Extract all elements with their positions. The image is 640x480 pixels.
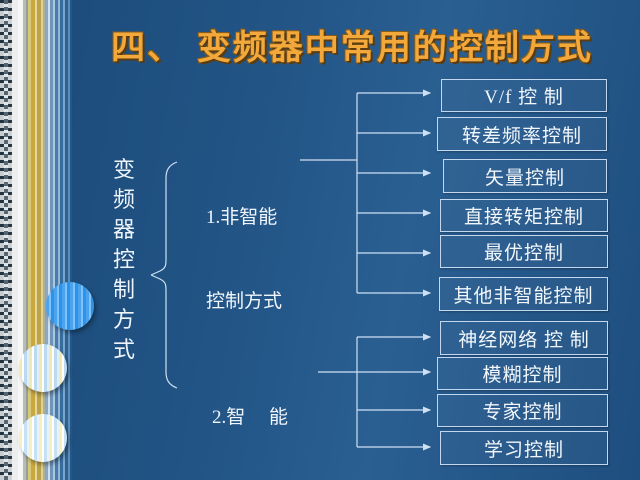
leaf-box-neural-network-control[interactable]: 神经网络 控 制 <box>440 321 608 355</box>
branch-1-line-2: 控制方式 <box>206 288 282 316</box>
brace-upper <box>151 162 177 275</box>
root-char-5: 方 <box>106 305 142 335</box>
leaf-label-fuzzy-control: 模糊控制 <box>482 360 562 387</box>
root-char-6: 式 <box>106 335 142 365</box>
leaf-label-other-non-intelligent: 其他非智能控制 <box>453 281 593 308</box>
leaf-box-vector-control[interactable]: 矢量控制 <box>443 159 607 193</box>
decorative-circle-2 <box>19 344 67 392</box>
leaf-label-neural-network-control: 神经网络 控 制 <box>458 325 590 352</box>
leaf-label-direct-torque-control: 直接转矩控制 <box>464 202 584 229</box>
leaf-box-fuzzy-control[interactable]: 模糊控制 <box>437 357 608 390</box>
root-char-3: 控 <box>106 245 142 275</box>
leaf-box-direct-torque-control[interactable]: 直接转矩控制 <box>440 199 608 232</box>
decorative-left-border <box>0 0 72 480</box>
branch-label-non-intelligent: 1.非智能 控制方式 <box>206 148 282 372</box>
leaf-box-expert-control[interactable]: 专家控制 <box>437 394 608 427</box>
leaf-label-vf-control: V/f 控 制 <box>484 82 564 109</box>
root-char-1: 频 <box>106 185 142 215</box>
brace-lower <box>151 275 177 388</box>
slide-title: 四、 变频器中常用的控制方式 <box>72 20 632 69</box>
leaf-box-other-non-intelligent[interactable]: 其他非智能控制 <box>439 277 608 311</box>
root-char-2: 器 <box>106 215 142 245</box>
leaf-label-expert-control: 专家控制 <box>482 397 562 424</box>
leaf-label-optimal-control: 最优控制 <box>484 238 564 265</box>
leaf-box-optimal-control[interactable]: 最优控制 <box>440 235 608 268</box>
leaf-label-vector-control: 矢量控制 <box>485 163 565 190</box>
leaf-box-vf-control[interactable]: V/f 控 制 <box>441 79 607 112</box>
root-node-label: 变 频 器 控 制 方 式 <box>106 155 142 365</box>
decorative-circle-3 <box>19 414 67 462</box>
leaf-box-learning-control[interactable]: 学习控制 <box>440 431 608 465</box>
root-char-4: 制 <box>106 275 142 305</box>
branch-2-line-1: 2.智 能 <box>212 404 288 432</box>
leaf-label-learning-control: 学习控制 <box>484 435 564 462</box>
root-char-0: 变 <box>106 155 142 185</box>
leaf-label-slip-frequency-control: 转差频率控制 <box>462 121 582 148</box>
leaf-box-slip-frequency-control[interactable]: 转差频率控制 <box>437 117 607 151</box>
film-strip-icon <box>0 0 12 480</box>
slide-canvas: 四、 变频器中常用的控制方式 变 频 器 控 制 方 式 1.非智能 控制方式 … <box>0 0 640 480</box>
branch-label-intelligent: 2.智 能 控制方式 <box>212 348 288 480</box>
branch-1-line-1: 1.非智能 <box>206 204 282 232</box>
decorative-circle-1 <box>46 282 94 330</box>
